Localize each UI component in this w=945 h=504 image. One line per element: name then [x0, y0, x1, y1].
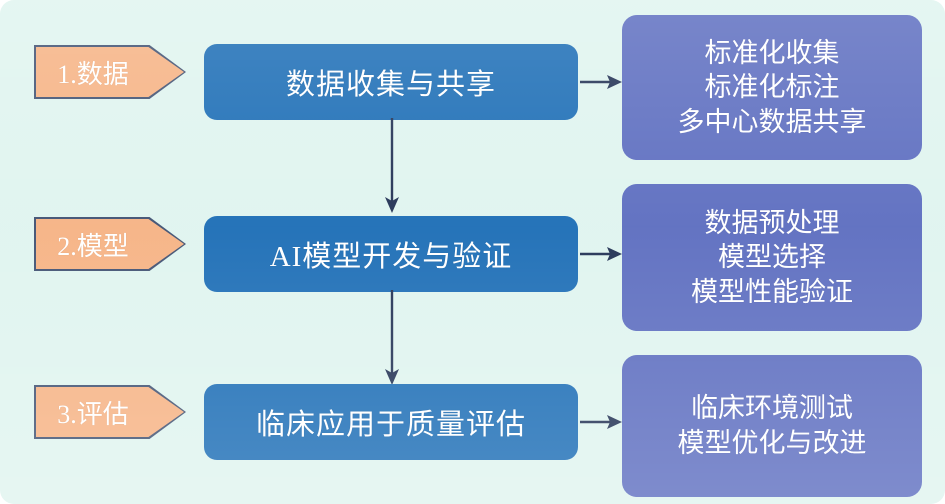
- stage-label-1: 1.数据: [34, 45, 152, 99]
- detail-box-1[interactable]: 标准化收集 标准化标注 多中心数据共享: [622, 15, 922, 160]
- flow-row-2: 2.模型 AI模型开发与验证 数据预处理 模型选择 模型性能验证: [0, 170, 945, 340]
- process-label-3: 临床应用于质量评估: [256, 401, 526, 443]
- process-box-2[interactable]: AI模型开发与验证: [204, 216, 578, 292]
- detail-box-2[interactable]: 数据预处理 模型选择 模型性能验证: [622, 184, 922, 331]
- detail-box-3[interactable]: 临床环境测试 模型优化与改进: [622, 355, 922, 497]
- flow-row-1: 1.数据 数据收集与共享 标准化收集 标准化标注 多中心数据共享: [0, 0, 945, 170]
- flow-row-3: 3.评估 临床应用于质量评估 临床环境测试 模型优化与改进: [0, 340, 945, 504]
- stage-label-2: 2.模型: [34, 217, 152, 271]
- detail-line: 标准化收集: [705, 36, 840, 71]
- stage-chevron-3[interactable]: 3.评估: [34, 385, 186, 439]
- detail-line: 标准化标注: [705, 70, 840, 105]
- right-arrow-icon-2: [580, 243, 622, 265]
- process-label-1: 数据收集与共享: [286, 61, 496, 103]
- right-arrow-icon-1: [580, 71, 622, 93]
- stage-label-3: 3.评估: [34, 385, 152, 439]
- detail-line: 模型选择: [718, 240, 826, 275]
- process-box-3[interactable]: 临床应用于质量评估: [204, 384, 578, 460]
- detail-line: 多中心数据共享: [678, 105, 867, 140]
- stage-chevron-1[interactable]: 1.数据: [34, 45, 186, 99]
- detail-line: 模型性能验证: [691, 275, 853, 310]
- process-box-1[interactable]: 数据收集与共享: [204, 44, 578, 120]
- detail-line: 临床环境测试: [691, 391, 853, 426]
- detail-line: 模型优化与改进: [678, 426, 867, 461]
- stage-chevron-2[interactable]: 2.模型: [34, 217, 186, 271]
- process-label-2: AI模型开发与验证: [270, 233, 513, 275]
- flowchart-canvas: 1.数据 数据收集与共享 标准化收集 标准化标注 多中心数据共享 2.模: [0, 0, 945, 504]
- detail-line: 数据预处理: [705, 206, 840, 241]
- right-arrow-icon-3: [580, 411, 622, 433]
